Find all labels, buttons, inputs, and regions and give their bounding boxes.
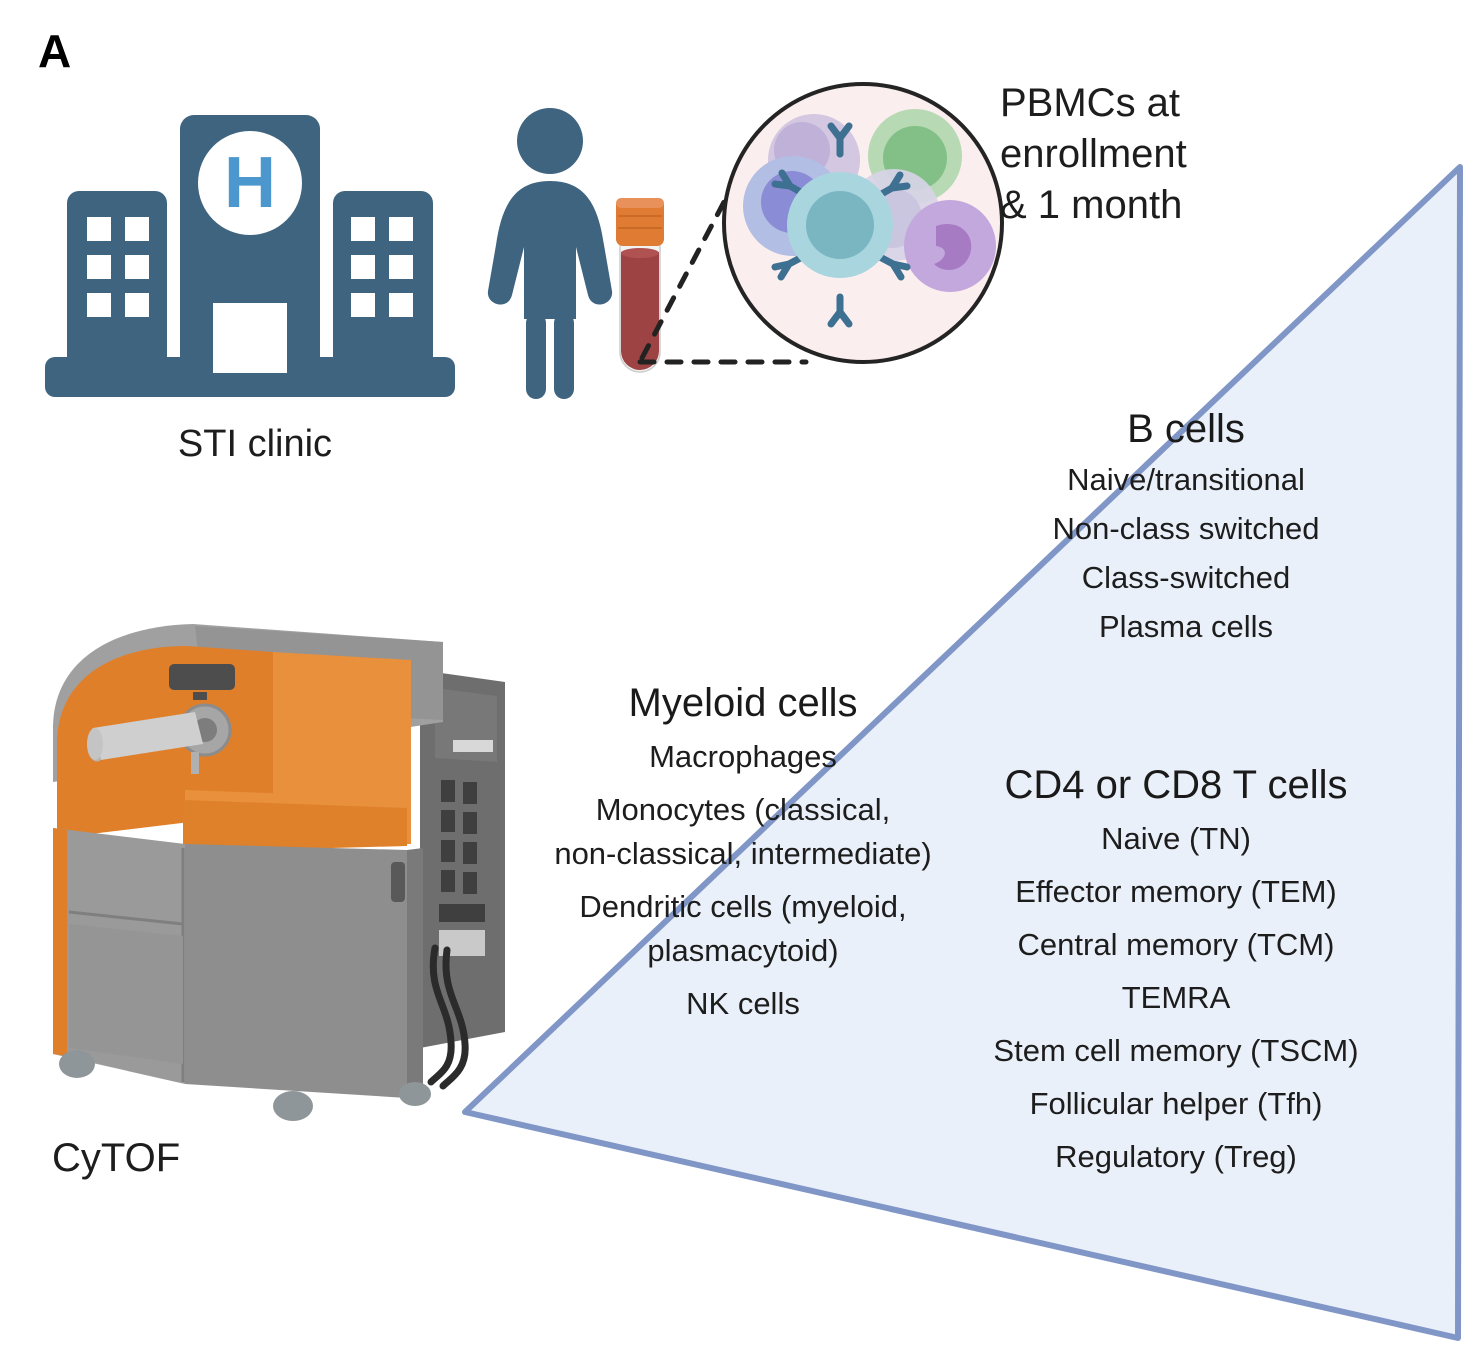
t-cells-item: Regulatory (Treg) xyxy=(936,1135,1416,1179)
cytof-mass-cytometer-icon xyxy=(35,612,535,1132)
panel-label: A xyxy=(38,28,72,74)
b-cells-item: Class-switched xyxy=(990,556,1382,600)
hospital-monogram: H xyxy=(224,143,276,223)
figure-panel-a: A H STI clinic xyxy=(0,0,1484,1352)
sti-clinic-label: STI clinic xyxy=(45,424,465,466)
b-cells-item: Plasma cells xyxy=(990,605,1382,649)
t-cells-item: Stem cell memory (TSCM) xyxy=(936,1029,1416,1073)
pbmc-caption-line-3: & 1 month xyxy=(1000,180,1330,231)
myeloid-cells-item: Dendritic cells (myeloid,plasmacytoid) xyxy=(510,885,976,973)
myeloid-cells-title: Myeloid cells xyxy=(510,680,976,726)
t-cells-block: CD4 or CD8 T cells Naive (TN) Effector m… xyxy=(936,762,1416,1179)
myeloid-cells-block: Myeloid cells Macrophages Monocytes (cla… xyxy=(510,680,976,1026)
t-cells-title: CD4 or CD8 T cells xyxy=(936,762,1416,808)
female-person-icon xyxy=(480,105,620,405)
t-cells-item: Central memory (TCM) xyxy=(936,923,1416,967)
hospital-icon: H xyxy=(45,95,465,405)
t-cells-item: TEMRA xyxy=(936,976,1416,1020)
pbmc-caption-line-1: PBMCs at xyxy=(1000,78,1330,129)
myeloid-cells-item: Macrophages xyxy=(510,735,976,779)
myeloid-cells-item: NK cells xyxy=(510,982,976,1026)
b-cells-item: Naive/transitional xyxy=(990,458,1382,502)
b-cells-item: Non-class switched xyxy=(990,507,1382,551)
t-cells-item: Naive (TN) xyxy=(936,817,1416,861)
purple-monocyte-cell xyxy=(904,200,996,292)
b-cells-block: B cells Naive/transitional Non-class swi… xyxy=(990,406,1382,649)
b-cells-title: B cells xyxy=(990,406,1382,452)
myeloid-cells-item: Monocytes (classical,non-classical, inte… xyxy=(510,788,976,876)
t-cells-item: Follicular helper (Tfh) xyxy=(936,1082,1416,1126)
pbmc-caption-line-2: enrollment xyxy=(1000,129,1330,180)
pbmc-cells-circle-icon xyxy=(718,78,1008,368)
pbmc-caption: PBMCs at enrollment & 1 month xyxy=(1000,78,1330,232)
t-cells-item: Effector memory (TEM) xyxy=(936,870,1416,914)
cytof-label: CyTOF xyxy=(52,1136,180,1180)
